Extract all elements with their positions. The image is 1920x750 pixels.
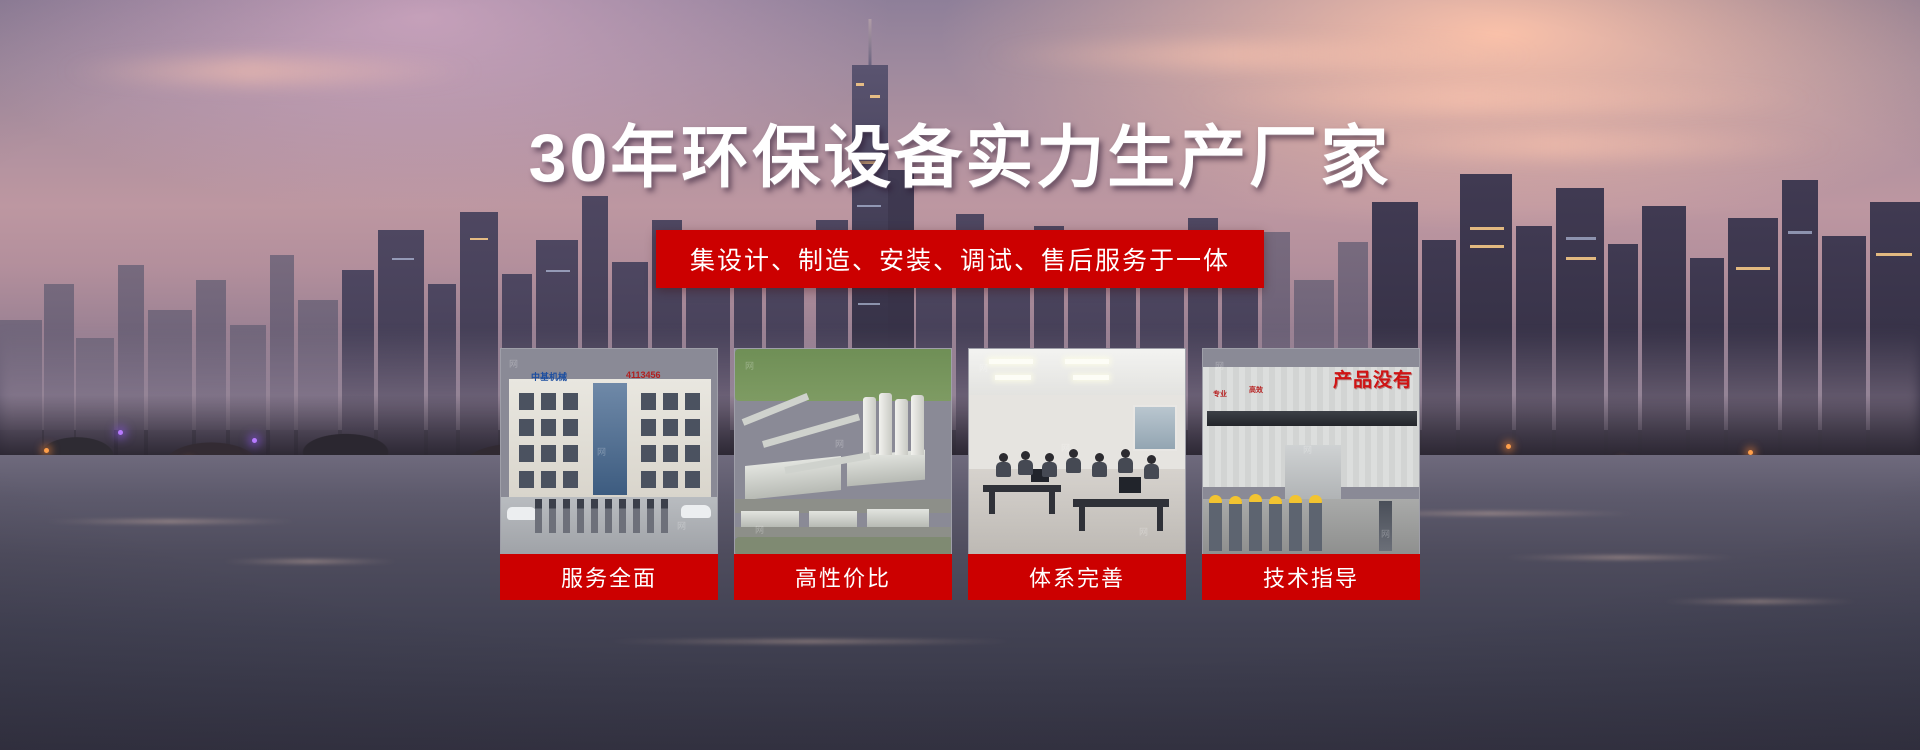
phone-number-text: 4113456 <box>626 370 661 380</box>
office-interior-staff-photo: 网 网 网 <box>968 348 1186 554</box>
factory-slogan-text: 专业 <box>1213 389 1227 399</box>
company-sign-text: 中基机械 <box>531 370 567 383</box>
factory-slogan-text: 高效 <box>1249 385 1263 395</box>
office-building-with-staff-photo: 中基机械 4113456 <box>500 348 718 554</box>
subtitle-badge: 集设计、制造、安装、调试、售后服务于一体 <box>656 230 1264 288</box>
banner-content: 30年环保设备实力生产厂家 集设计、制造、安装、调试、售后服务于一体 中基机械 … <box>0 0 1920 750</box>
feature-card-label: 服务全面 <box>500 554 718 600</box>
feature-card-label: 高性价比 <box>734 554 952 600</box>
aerial-factory-plant-photo: 网 网 网 <box>734 348 952 554</box>
feature-card-label: 技术指导 <box>1202 554 1420 600</box>
feature-card[interactable]: 网 网 网 高性价比 <box>734 348 952 600</box>
feature-card[interactable]: 产品没有 专业 高效 网 网 网 <box>1202 348 1420 600</box>
feature-card-label: 体系完善 <box>968 554 1186 600</box>
feature-card[interactable]: 中基机械 4113456 <box>500 348 718 600</box>
hero-banner: 30年环保设备实力生产厂家 集设计、制造、安装、调试、售后服务于一体 中基机械 … <box>0 0 1920 750</box>
feature-card-list: 中基机械 4113456 <box>500 348 1420 600</box>
page-title: 30年环保设备实力生产厂家 <box>0 102 1920 201</box>
factory-sign-text: 产品没有 <box>1333 365 1413 392</box>
feature-card[interactable]: 网 网 网 体系完善 <box>968 348 1186 600</box>
factory-workshop-workers-photo: 产品没有 专业 高效 网 网 网 <box>1202 348 1420 554</box>
